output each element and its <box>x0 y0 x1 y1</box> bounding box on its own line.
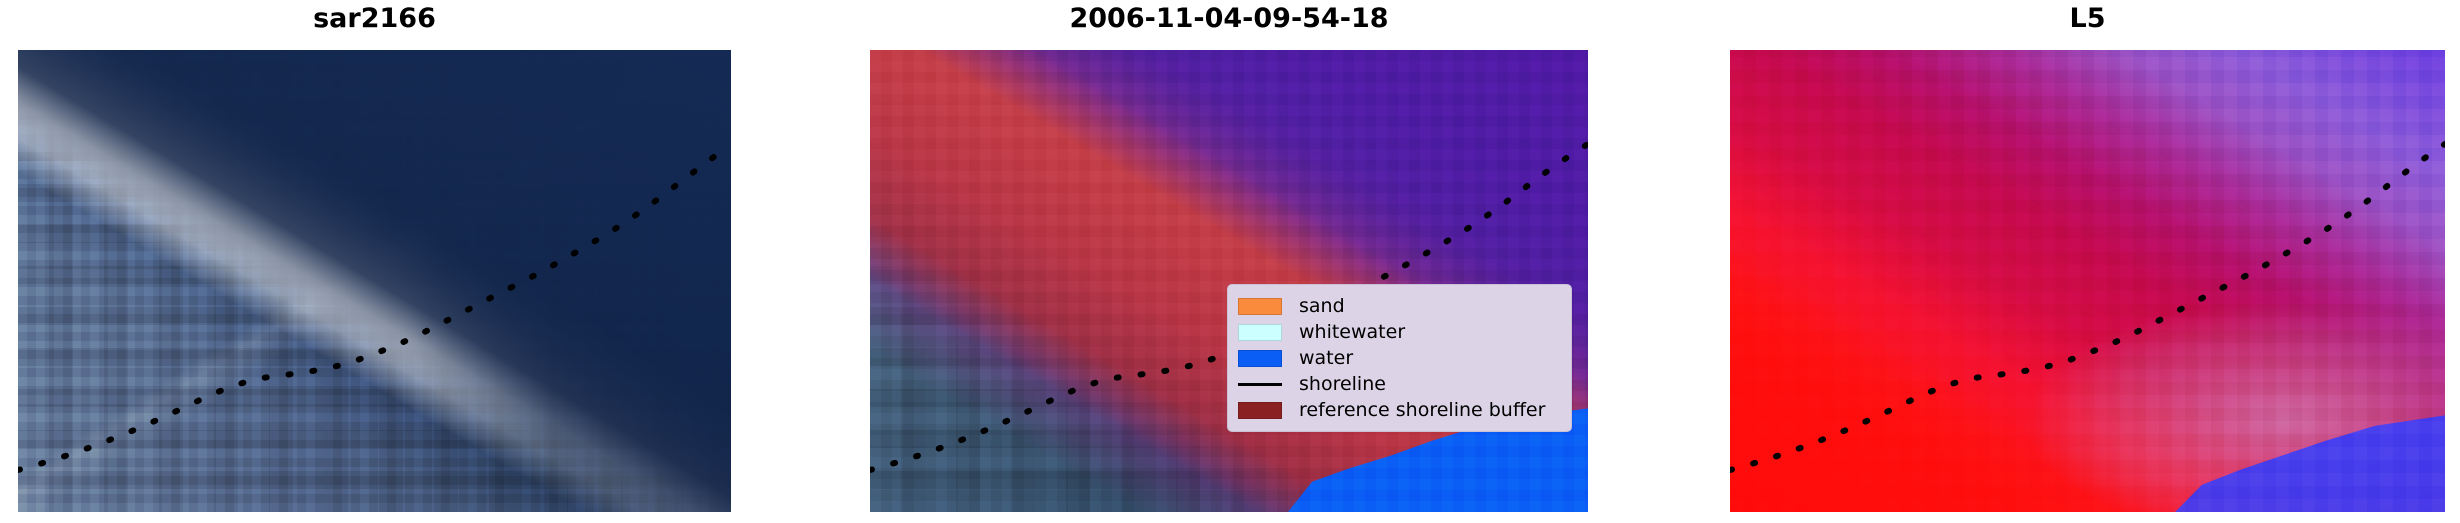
classified-pixel-steps <box>870 50 1588 512</box>
shoreline-line-icon <box>1238 376 1282 393</box>
panel-title-1: sar2166 <box>18 2 731 36</box>
legend-item-sand: sand <box>1238 293 1561 319</box>
sar-water-layer <box>18 50 731 512</box>
legend-label-shoreline: shoreline <box>1299 373 1386 395</box>
sand-swatch-icon <box>1238 298 1282 315</box>
panel-classified-overlay[interactable] <box>870 50 1588 512</box>
figure-canvas: sar2166 2006-11-04-09-54-18 <box>0 0 2460 523</box>
panel-title-2: 2006-11-04-09-54-18 <box>870 2 1588 36</box>
legend-item-whitewater: whitewater <box>1238 319 1561 345</box>
legend-label-sand: sand <box>1299 295 1345 317</box>
legend-item-water: water <box>1238 345 1561 371</box>
classified-raster <box>870 50 1588 512</box>
legend-label-whitewater: whitewater <box>1299 321 1405 343</box>
panel-false-colour-image[interactable] <box>1730 50 2445 512</box>
reference-shoreline-buffer-swatch-icon <box>1238 402 1282 419</box>
legend-item-shoreline: shoreline <box>1238 371 1561 397</box>
l5-pixel-texture <box>1730 50 2445 512</box>
legend-label-water: water <box>1299 347 1353 369</box>
l5-raster <box>1730 50 2445 512</box>
panel-sar-image[interactable] <box>18 50 731 512</box>
water-swatch-icon <box>1238 350 1282 367</box>
legend-label-reference-shoreline-buffer: reference shoreline buffer <box>1299 399 1545 421</box>
whitewater-swatch-icon <box>1238 324 1282 341</box>
panel-title-3: L5 <box>1730 2 2445 36</box>
legend-box: sand whitewater water shoreline referenc… <box>1227 284 1572 432</box>
legend-item-reference-shoreline-buffer: reference shoreline buffer <box>1238 397 1561 423</box>
sar-raster <box>18 50 731 512</box>
